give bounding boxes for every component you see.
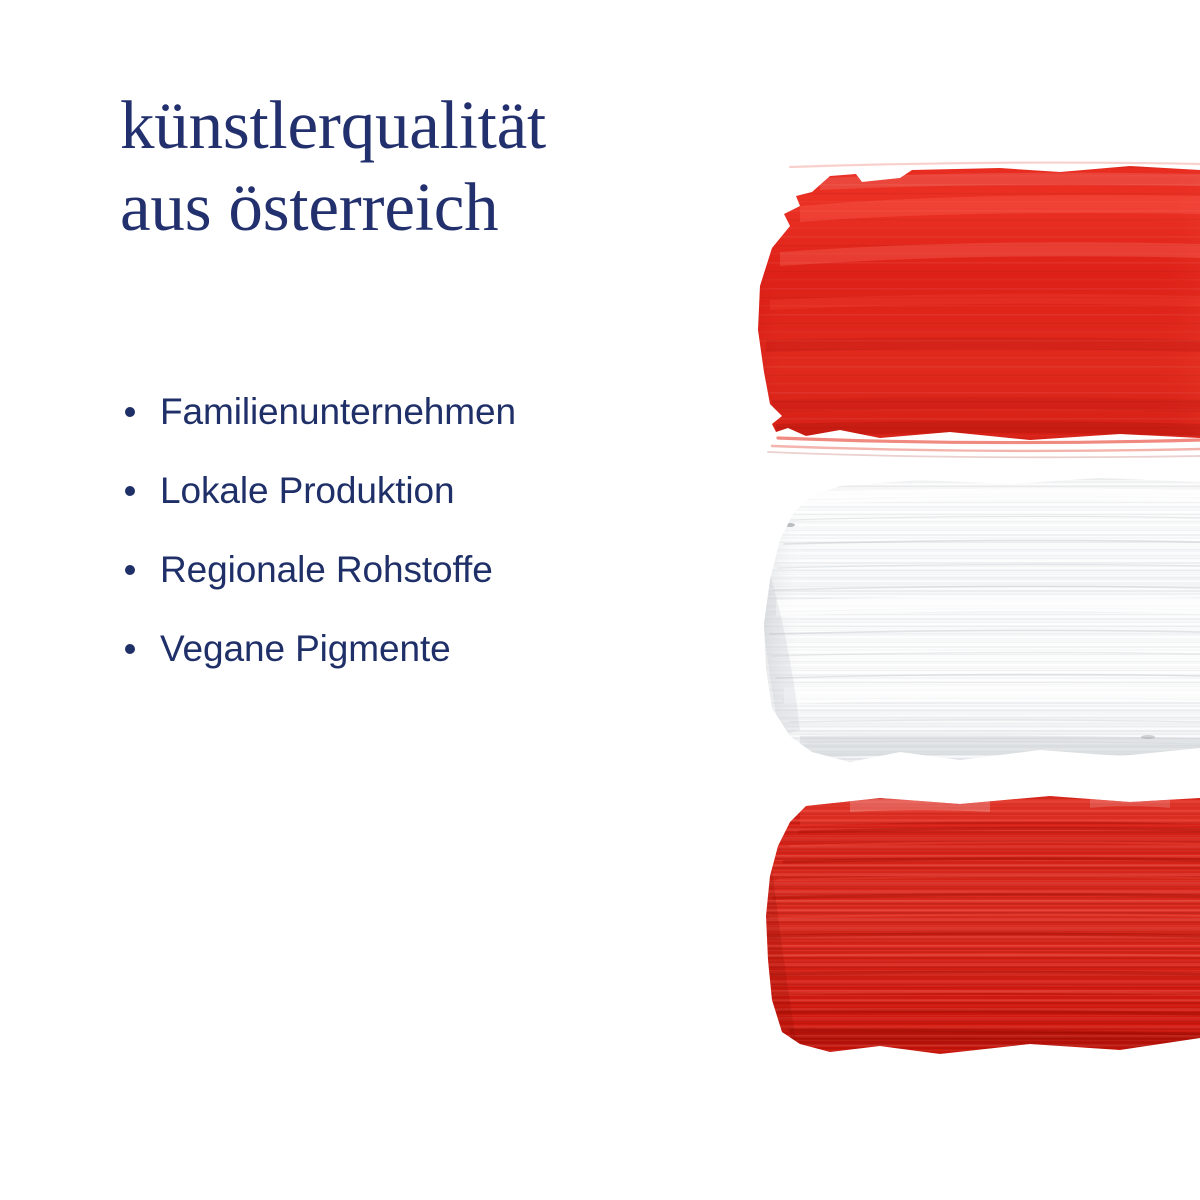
text-content-block: künstlerqualität aus österreich Familien… bbox=[120, 84, 780, 248]
list-item-label: Lokale Produktion bbox=[160, 470, 455, 512]
top-red-bristle-trail bbox=[768, 163, 1200, 458]
list-item: Vegane Pigmente bbox=[125, 609, 765, 688]
top-red-paint-stroke bbox=[740, 150, 1200, 460]
list-item-label: Vegane Pigmente bbox=[160, 628, 451, 670]
bullet-icon bbox=[125, 644, 135, 654]
list-item-label: Regionale Rohstoffe bbox=[160, 549, 493, 591]
list-item-label: Familienunternehmen bbox=[160, 391, 516, 433]
list-item: Regionale Rohstoffe bbox=[125, 530, 765, 609]
bottom-red-paint-stroke bbox=[750, 780, 1200, 1080]
middle-white-paint-stroke bbox=[750, 470, 1200, 770]
bullet-icon bbox=[125, 565, 135, 575]
bullet-icon bbox=[125, 407, 135, 417]
bullet-icon bbox=[125, 486, 135, 496]
feature-list: Familienunternehmen Lokale Produktion Re… bbox=[125, 372, 765, 688]
poster-canvas: künstlerqualität aus österreich Familien… bbox=[0, 0, 1200, 1200]
page-title: künstlerqualität aus österreich bbox=[120, 84, 780, 248]
list-item: Familienunternehmen bbox=[125, 372, 765, 451]
list-item: Lokale Produktion bbox=[125, 451, 765, 530]
